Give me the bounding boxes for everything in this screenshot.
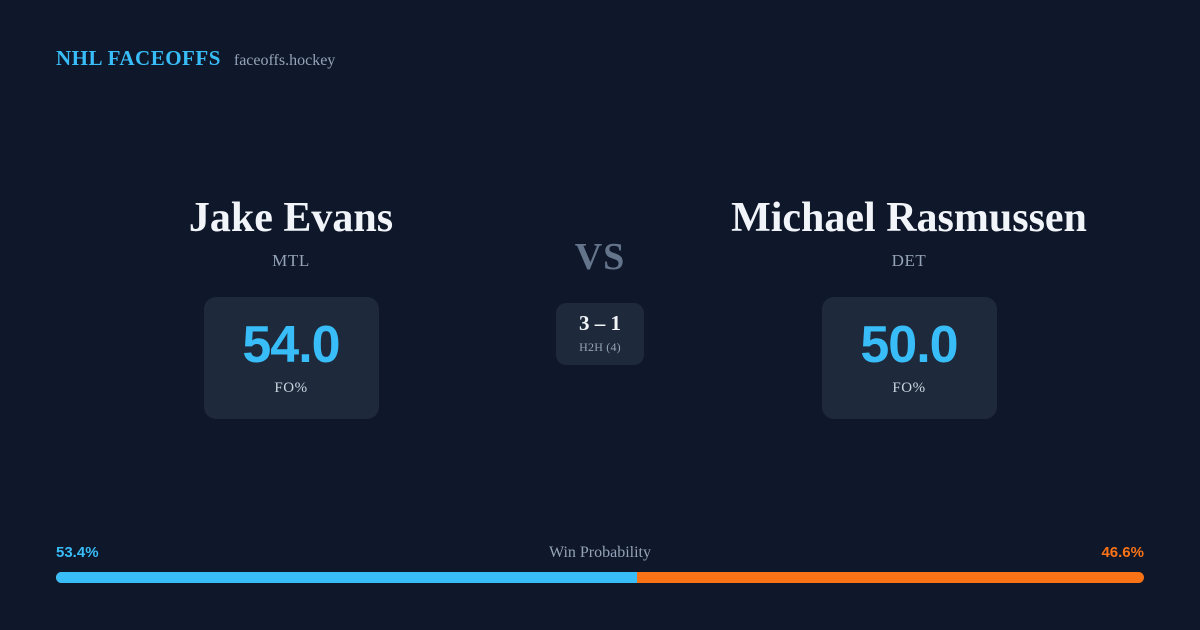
brand-domain: faceoffs.hockey bbox=[234, 52, 335, 70]
faceoff-pct-value-left: 54.0 bbox=[242, 319, 339, 371]
head-to-head-badge: 3 – 1 H2H (4) bbox=[556, 303, 644, 365]
player-card-right[interactable]: Michael Rasmussen DET 50.0 FO% bbox=[675, 196, 1143, 419]
win-probability-caption: Win Probability bbox=[549, 544, 651, 562]
matchup-section: Jake Evans MTL 54.0 FO% VS 3 – 1 H2H (4)… bbox=[0, 196, 1200, 419]
stat-card-right: 50.0 FO% bbox=[822, 297, 997, 419]
player-team-right: DET bbox=[892, 251, 927, 271]
head-to-head-label: H2H (4) bbox=[579, 340, 621, 355]
faceoff-pct-label-left: FO% bbox=[274, 380, 307, 397]
versus-column: VS 3 – 1 H2H (4) bbox=[525, 196, 675, 365]
win-probability-labels: 53.4% Win Probability 46.6% bbox=[56, 544, 1144, 562]
win-probability-right-pct: 46.6% bbox=[1101, 544, 1144, 561]
head-to-head-score: 3 – 1 bbox=[579, 313, 621, 334]
win-probability-bar-left-fill bbox=[56, 572, 637, 583]
faceoff-pct-value-right: 50.0 bbox=[860, 319, 957, 371]
win-probability-left-pct: 53.4% bbox=[56, 544, 99, 561]
player-team-left: MTL bbox=[272, 251, 310, 271]
stat-card-left: 54.0 FO% bbox=[204, 297, 379, 419]
site-header: NHL FACEOFFS faceoffs.hockey bbox=[56, 46, 335, 71]
player-name-right: Michael Rasmussen bbox=[731, 196, 1087, 241]
win-probability-section: 53.4% Win Probability 46.6% bbox=[56, 544, 1144, 583]
win-probability-bar bbox=[56, 572, 1144, 583]
faceoff-pct-label-right: FO% bbox=[892, 380, 925, 397]
player-name-left: Jake Evans bbox=[189, 196, 393, 241]
player-card-left[interactable]: Jake Evans MTL 54.0 FO% bbox=[57, 196, 525, 419]
versus-label: VS bbox=[575, 238, 626, 276]
brand-title[interactable]: NHL FACEOFFS bbox=[56, 46, 221, 71]
